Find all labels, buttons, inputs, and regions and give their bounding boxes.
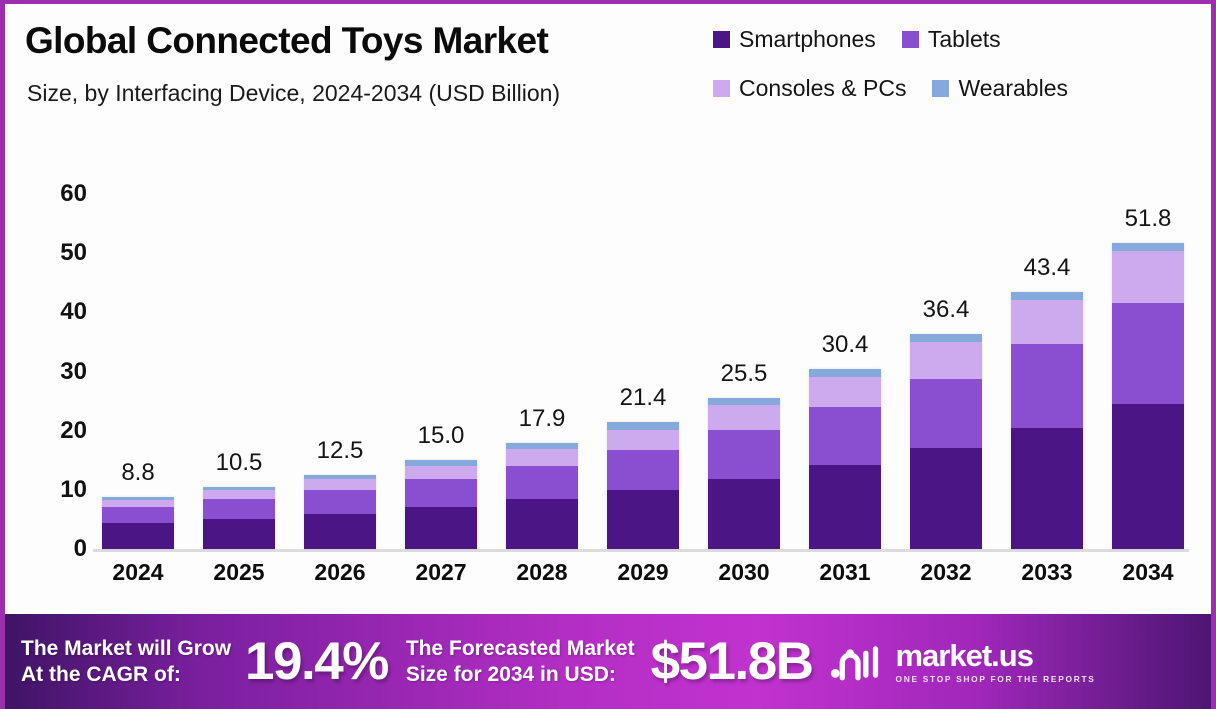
bar-stack[interactable] [910, 334, 982, 549]
x-axis-tick: 2029 [602, 559, 684, 586]
bar-segment-tablets[interactable] [1112, 303, 1184, 404]
bar-group: 8.810.512.515.017.921.425.530.436.443.45… [97, 134, 1189, 549]
bar-segment-consoles-pcs[interactable] [102, 500, 174, 507]
page-title: Global Connected Toys Market [25, 20, 548, 62]
bar-segment-smartphones[interactable] [506, 499, 578, 549]
bar-segment-smartphones[interactable] [304, 514, 376, 550]
bar-column[interactable]: 30.4 [804, 134, 886, 549]
bar-segment-tablets[interactable] [607, 450, 679, 490]
y-axis-tick: 20 [60, 417, 87, 445]
forecast-caption-line2: Size for 2034 in USD: [406, 662, 635, 688]
x-axis-tick: 2034 [1107, 559, 1189, 586]
y-axis-tick: 30 [60, 358, 87, 386]
bar-segment-smartphones[interactable] [203, 519, 275, 549]
bar-segment-wearables[interactable] [607, 422, 679, 429]
x-axis-line [93, 549, 1189, 552]
bar-stack[interactable] [405, 460, 477, 549]
summary-banner: The Market will Grow At the CAGR of: 19.… [5, 614, 1216, 709]
x-axis-tick: 2024 [97, 559, 179, 586]
market-us-logo-text: market.us ONE STOP SHOP FOR THE REPORTS [895, 640, 1095, 684]
legend-swatch-consoles-pcs [713, 80, 730, 97]
bar-value-label: 8.8 [121, 459, 154, 487]
bar-column[interactable]: 12.5 [299, 134, 381, 549]
bar-column[interactable]: 21.4 [602, 134, 684, 549]
x-axis-labels: 2024202520262027202820292030203120322033… [97, 559, 1189, 586]
market-us-logo[interactable]: market.us ONE STOP SHOP FOR THE REPORTS [830, 640, 1095, 684]
bar-column[interactable]: 51.8 [1107, 134, 1189, 549]
cagr-caption: The Market will Grow At the CAGR of: [21, 636, 231, 687]
bar-segment-wearables[interactable] [708, 398, 780, 405]
x-axis-tick: 2030 [703, 559, 785, 586]
bar-value-label: 43.4 [1024, 254, 1071, 282]
bar-value-label: 30.4 [822, 331, 869, 359]
bar-segment-wearables[interactable] [809, 369, 881, 377]
bar-segment-smartphones[interactable] [102, 523, 174, 549]
bar-segment-smartphones[interactable] [708, 479, 780, 549]
bar-segment-smartphones[interactable] [910, 448, 982, 549]
bar-value-label: 15.0 [418, 422, 465, 450]
cagr-value: 19.4% [245, 631, 388, 692]
chart-plot-area: 0102030405060 8.810.512.515.017.921.425.… [5, 134, 1216, 609]
legend-label-smartphones: Smartphones [739, 26, 876, 53]
y-axis-tick: 10 [60, 476, 87, 504]
x-axis-tick: 2033 [1006, 559, 1088, 586]
y-axis-tick: 60 [60, 180, 87, 208]
bar-column[interactable]: 43.4 [1006, 134, 1088, 549]
bar-value-label: 36.4 [923, 296, 970, 324]
bar-segment-smartphones[interactable] [405, 507, 477, 549]
bar-stack[interactable] [708, 398, 780, 549]
x-axis-tick: 2031 [804, 559, 886, 586]
x-axis-tick: 2028 [501, 559, 583, 586]
bar-segment-tablets[interactable] [708, 430, 780, 479]
bar-value-label: 51.8 [1125, 205, 1172, 233]
bar-column[interactable]: 10.5 [198, 134, 280, 549]
y-axis-tick: 0 [74, 535, 87, 563]
forecast-caption: The Forecasted Market Size for 2034 in U… [406, 636, 635, 687]
bar-stack[interactable] [203, 487, 275, 549]
bar-segment-consoles-pcs[interactable] [910, 342, 982, 379]
bar-segment-smartphones[interactable] [809, 465, 881, 549]
bar-segment-tablets[interactable] [1011, 344, 1083, 428]
bar-stack[interactable] [1112, 243, 1184, 549]
bar-stack[interactable] [809, 369, 881, 549]
market-us-logo-icon [830, 641, 886, 683]
legend-swatch-tablets [902, 31, 919, 48]
bar-column[interactable]: 8.8 [97, 134, 179, 549]
x-axis-tick: 2032 [905, 559, 987, 586]
bar-value-label: 21.4 [620, 384, 667, 412]
legend-row-bottom: Consoles & PCs Wearables [713, 75, 1153, 102]
chart-legend: Smartphones Tablets Consoles & PCs Weara… [713, 26, 1153, 124]
bar-column[interactable]: 15.0 [400, 134, 482, 549]
legend-label-tablets: Tablets [928, 26, 1001, 53]
bar-segment-tablets[interactable] [405, 479, 477, 507]
bar-segment-wearables[interactable] [910, 334, 982, 342]
bar-segment-tablets[interactable] [809, 407, 881, 465]
bar-segment-wearables[interactable] [1011, 292, 1083, 300]
bar-column[interactable]: 25.5 [703, 134, 785, 549]
bar-stack[interactable] [607, 422, 679, 549]
forecast-value: $51.8B [651, 631, 813, 692]
bar-segment-consoles-pcs[interactable] [809, 377, 881, 407]
bar-segment-tablets[interactable] [910, 379, 982, 449]
bar-value-label: 10.5 [216, 449, 263, 477]
bar-stack[interactable] [506, 443, 578, 549]
legend-label-wearables: Wearables [958, 75, 1068, 102]
legend-item-wearables[interactable]: Wearables [932, 75, 1068, 102]
bar-segment-consoles-pcs[interactable] [607, 430, 679, 450]
cagr-caption-line2: At the CAGR of: [21, 662, 231, 688]
legend-row-top: Smartphones Tablets [713, 26, 1153, 53]
legend-item-tablets[interactable]: Tablets [902, 26, 1001, 53]
logo-name: market.us [895, 640, 1095, 671]
bar-segment-consoles-pcs[interactable] [506, 449, 578, 466]
bar-segment-tablets[interactable] [304, 490, 376, 514]
bar-segment-consoles-pcs[interactable] [405, 466, 477, 480]
bar-stack[interactable] [102, 497, 174, 549]
logo-tagline: ONE STOP SHOP FOR THE REPORTS [895, 674, 1095, 684]
bar-value-label: 12.5 [317, 437, 364, 465]
y-axis-labels: 0102030405060 [5, 134, 97, 609]
bar-column[interactable]: 17.9 [501, 134, 583, 549]
legend-item-consoles-pcs[interactable]: Consoles & PCs [713, 75, 906, 102]
infographic-root: Global Connected Toys Market Size, by In… [0, 0, 1216, 709]
bar-stack[interactable] [1011, 292, 1083, 549]
x-axis-tick: 2026 [299, 559, 381, 586]
bar-segment-smartphones[interactable] [607, 490, 679, 549]
bar-segment-smartphones[interactable] [1112, 404, 1184, 549]
bar-segment-smartphones[interactable] [1011, 428, 1083, 549]
legend-item-smartphones[interactable]: Smartphones [713, 26, 876, 53]
page-subtitle: Size, by Interfacing Device, 2024-2034 (… [27, 80, 560, 107]
legend-swatch-smartphones [713, 31, 730, 48]
bar-segment-consoles-pcs[interactable] [1011, 300, 1083, 344]
y-axis-tick: 50 [60, 239, 87, 267]
legend-swatch-wearables [932, 80, 949, 97]
bar-segment-tablets[interactable] [102, 507, 174, 523]
bar-segment-wearables[interactable] [1112, 243, 1184, 252]
bar-segment-consoles-pcs[interactable] [304, 479, 376, 490]
x-axis-tick: 2027 [400, 559, 482, 586]
bar-segment-tablets[interactable] [506, 466, 578, 500]
cagr-caption-line1: The Market will Grow [21, 636, 231, 662]
bar-segment-tablets[interactable] [203, 499, 275, 519]
legend-label-consoles-pcs: Consoles & PCs [739, 75, 906, 102]
bar-column[interactable]: 36.4 [905, 134, 987, 549]
bar-segment-consoles-pcs[interactable] [203, 490, 275, 499]
bar-value-label: 25.5 [721, 360, 768, 388]
forecast-caption-line1: The Forecasted Market [406, 636, 635, 662]
bar-value-label: 17.9 [519, 405, 566, 433]
y-axis-tick: 40 [60, 298, 87, 326]
bar-segment-consoles-pcs[interactable] [1112, 251, 1184, 302]
bar-stack[interactable] [304, 475, 376, 549]
bar-segment-consoles-pcs[interactable] [708, 405, 780, 430]
x-axis-tick: 2025 [198, 559, 280, 586]
